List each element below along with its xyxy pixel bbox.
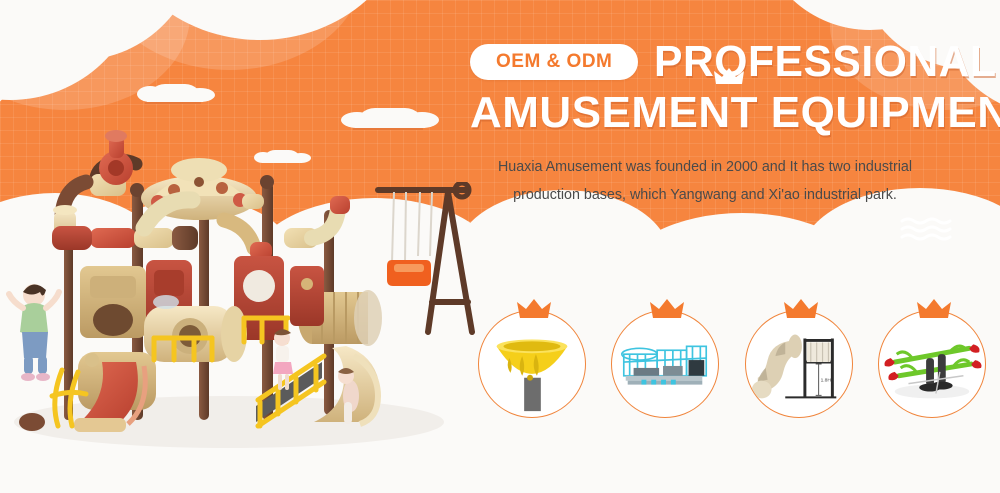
spinner-bowl-art: [479, 311, 585, 417]
headline-line-2: AMUSEMENT EQUIPMENT: [470, 91, 962, 136]
playground-illustration: [0, 70, 464, 470]
thumbnail-circle: [478, 310, 586, 418]
product-thumbnail-list: 1.8H: [478, 298, 990, 423]
thumbnail-circle: [611, 310, 719, 418]
banner-description: Huaxia Amusement was founded in 2000 and…: [470, 154, 940, 210]
product-thumbnail-spinner-bowl[interactable]: [478, 298, 590, 418]
headline-line-1: PROFESSIONAL: [654, 40, 997, 85]
svg-text:1.8H: 1.8H: [820, 378, 831, 384]
product-thumbnail-tube-slide-tower[interactable]: 1.8H: [745, 298, 857, 418]
tube-slide-tower-art: 1.8H: [746, 311, 852, 417]
banner-copy: OEM & ODM PROFESSIONAL AMUSEMENT EQUIPME…: [470, 40, 980, 247]
thumbnail-circle: [878, 310, 986, 418]
crown-icon: [650, 298, 684, 320]
promo-banner: OEM & ODM PROFESSIONAL AMUSEMENT EQUIPME…: [0, 0, 1000, 493]
crown-icon: [917, 298, 951, 320]
crown-icon: [714, 67, 744, 87]
headline-wrapper: AMUSEMENT EQUIPMENT: [470, 91, 980, 136]
product-thumbnail-seesaw[interactable]: [878, 298, 990, 418]
product-thumbnail-climbing-structure[interactable]: [611, 298, 723, 418]
climbing-structure-art: [612, 311, 718, 417]
thumbnail-circle: 1.8H: [745, 310, 853, 418]
oem-odm-badge: OEM & ODM: [470, 44, 638, 80]
crown-icon: [517, 298, 551, 320]
waves-icon: [900, 216, 952, 242]
seesaw-art: [879, 311, 985, 417]
crown-icon: [784, 298, 818, 320]
child-figure-left: [6, 278, 62, 388]
